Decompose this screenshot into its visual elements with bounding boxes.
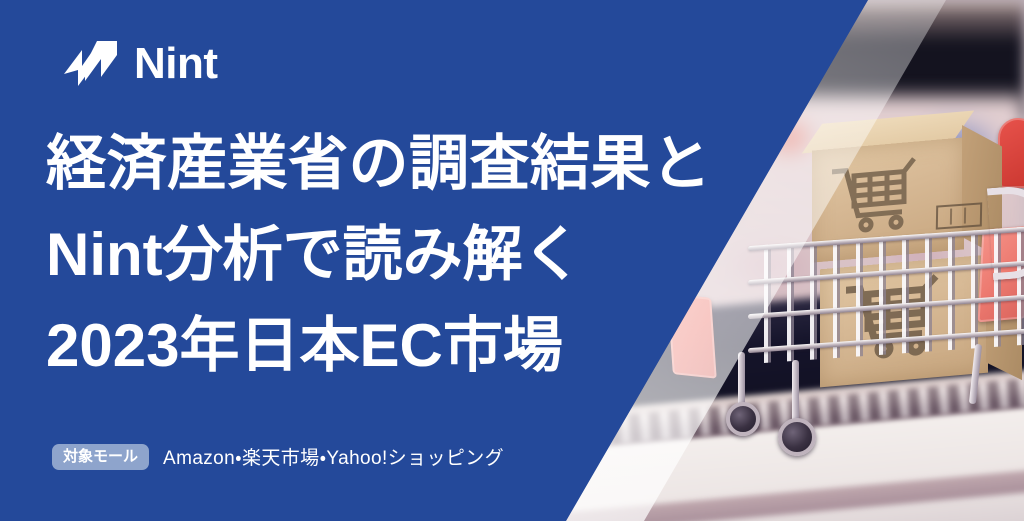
headline-line-1: 経済産業省の調査結果と xyxy=(46,118,746,209)
target-malls-list: Amazon・楽天市場・Yahoo!ショッピング xyxy=(163,443,504,470)
banner-content: Nint 経済産業省の調査結果と Nint分析で読み解く 2023年日本EC市場… xyxy=(0,0,1024,521)
nint-wordmark: Nint xyxy=(134,42,218,86)
headline-line-2: Nint分析で読み解く xyxy=(46,209,746,300)
ec-market-banner: Nint 経済産業省の調査結果と Nint分析で読み解く 2023年日本EC市場… xyxy=(0,0,1024,521)
headline-line-3: 2023年日本EC市場 xyxy=(46,300,746,391)
headline: 経済産業省の調査結果と Nint分析で読み解く 2023年日本EC市場 xyxy=(46,118,746,392)
target-malls-badge: 対象モール xyxy=(52,444,149,470)
target-malls: 対象モール Amazon・楽天市場・Yahoo!ショッピング xyxy=(52,443,504,470)
nint-logo[interactable]: Nint xyxy=(62,40,218,88)
nint-logo-mark xyxy=(62,40,120,88)
